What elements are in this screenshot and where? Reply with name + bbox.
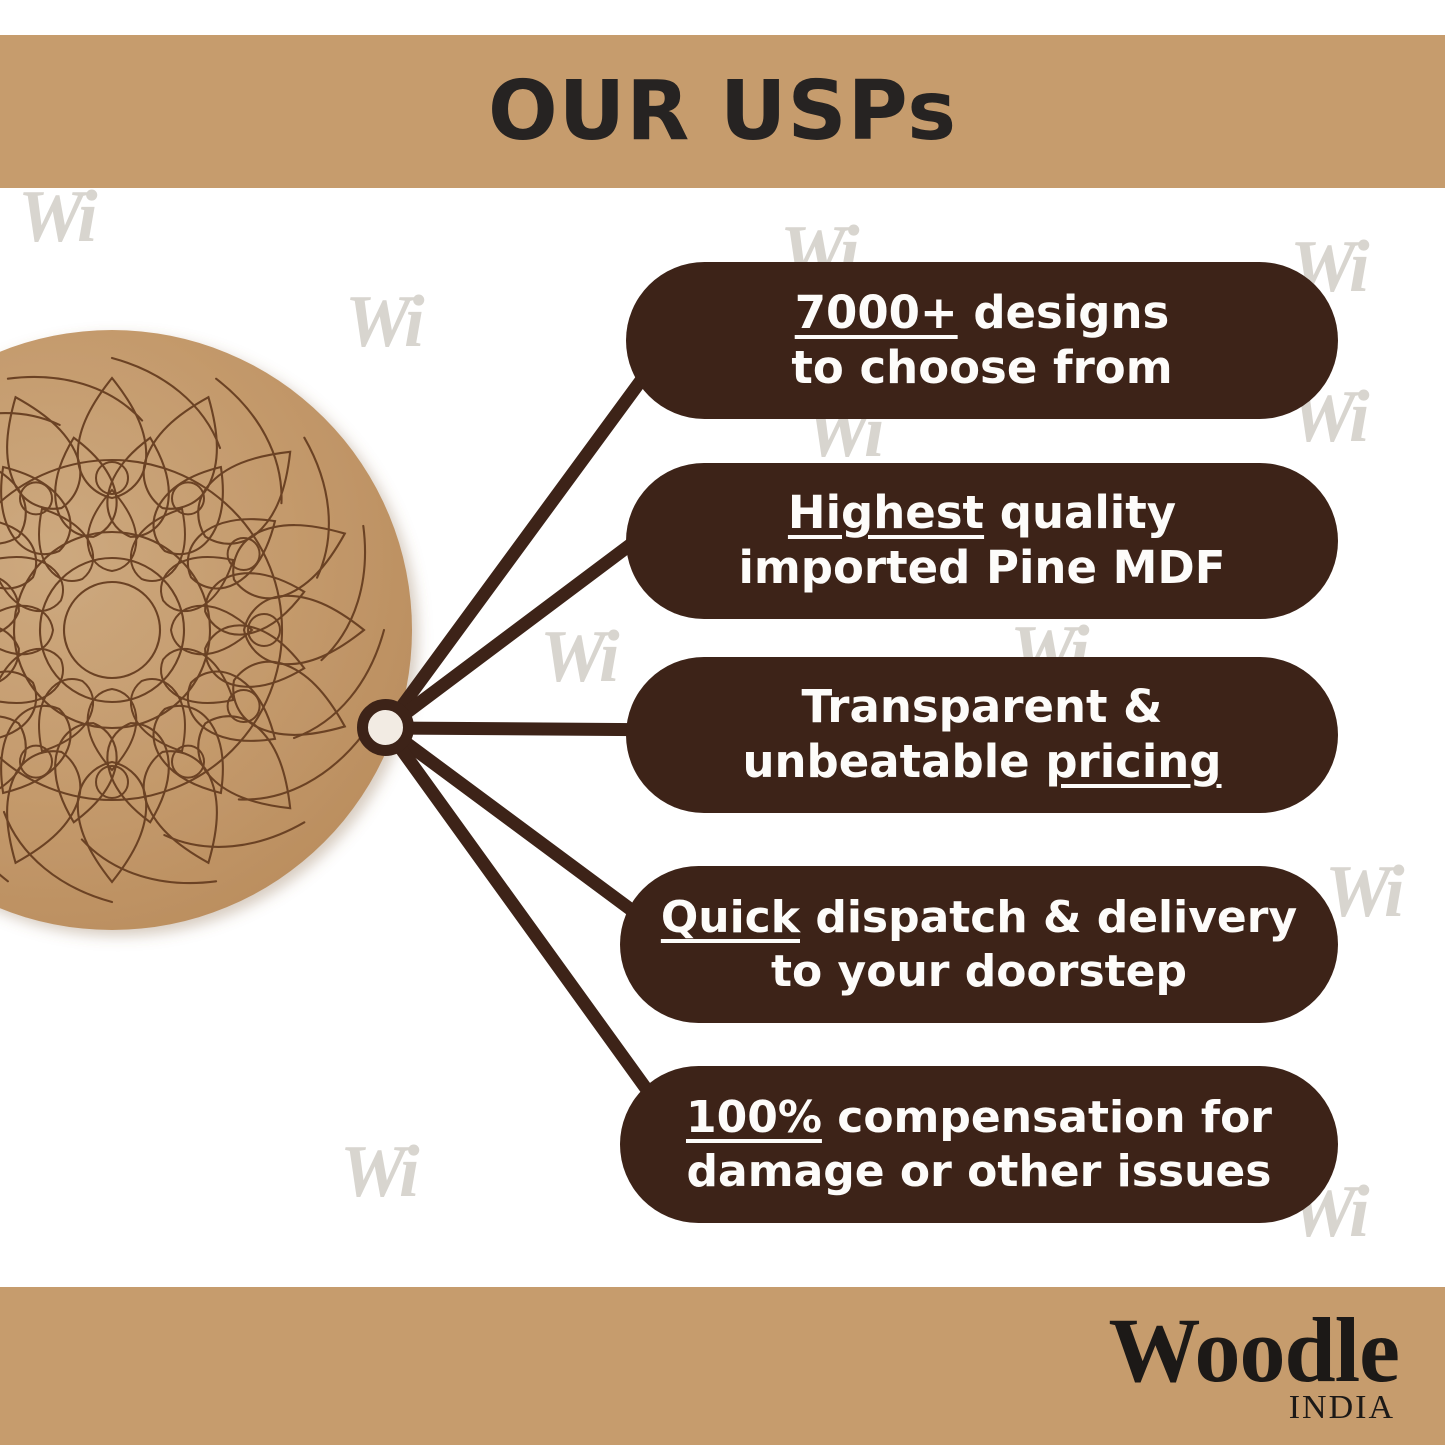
usp-pill-text: Highest quality imported Pine MDF	[738, 486, 1225, 596]
usp-pill-text: 7000+ designs to choose from	[791, 286, 1172, 396]
usp-emphasis: 100%	[686, 1092, 822, 1143]
usp-emphasis: Quick	[661, 892, 800, 943]
brand-name: Woodle	[1109, 1305, 1399, 1395]
usp-pill-designs-count[interactable]: 7000+ designs to choose from	[626, 262, 1338, 419]
usp-line2: imported Pine MDF	[738, 541, 1225, 594]
usp-pill-material-quality[interactable]: Highest quality imported Pine MDF	[626, 463, 1338, 619]
usp-line2: damage or other issues	[687, 1146, 1272, 1197]
usp-line1: Transparent &	[802, 680, 1163, 733]
usp-emphasis: pricing	[1045, 735, 1221, 788]
usp-line2: to choose from	[791, 341, 1172, 394]
usp-pill-stack: 7000+ designs to choose from Highest qua…	[0, 0, 1445, 1445]
usp-emphasis: 7000+	[795, 286, 958, 339]
usp-pill-compensation[interactable]: 100% compensation for damage or other is…	[620, 1066, 1338, 1223]
connector-hub-node	[357, 699, 414, 756]
usp-line1-rest: dispatch & delivery	[800, 892, 1297, 943]
usp-pill-text: Quick dispatch & delivery to your doorst…	[661, 891, 1297, 998]
page-title: OUR USPs	[488, 71, 957, 153]
infographic-canvas: Wi Wi Wi Wi Wi Wi Wi Wi Wi Wi Wi Wi	[0, 0, 1445, 1445]
usp-line1-rest: compensation for	[822, 1092, 1272, 1143]
usp-line2: to your doorstep	[771, 946, 1187, 997]
footer-band: Woodle INDIA	[0, 1287, 1445, 1445]
usp-pill-text: Transparent & unbeatable pricing	[742, 680, 1221, 790]
usp-pill-pricing[interactable]: Transparent & unbeatable pricing	[626, 657, 1338, 813]
usp-line1-rest: quality	[984, 486, 1176, 539]
usp-pill-text: 100% compensation for damage or other is…	[686, 1091, 1272, 1198]
brand-logo: Woodle INDIA	[1109, 1305, 1399, 1425]
usp-pill-dispatch-delivery[interactable]: Quick dispatch & delivery to your doorst…	[620, 866, 1338, 1023]
usp-emphasis: Highest	[788, 486, 984, 539]
header-band: OUR USPs	[0, 35, 1445, 188]
usp-line2-rest: unbeatable	[742, 735, 1045, 788]
usp-line1-rest: designs	[958, 286, 1170, 339]
